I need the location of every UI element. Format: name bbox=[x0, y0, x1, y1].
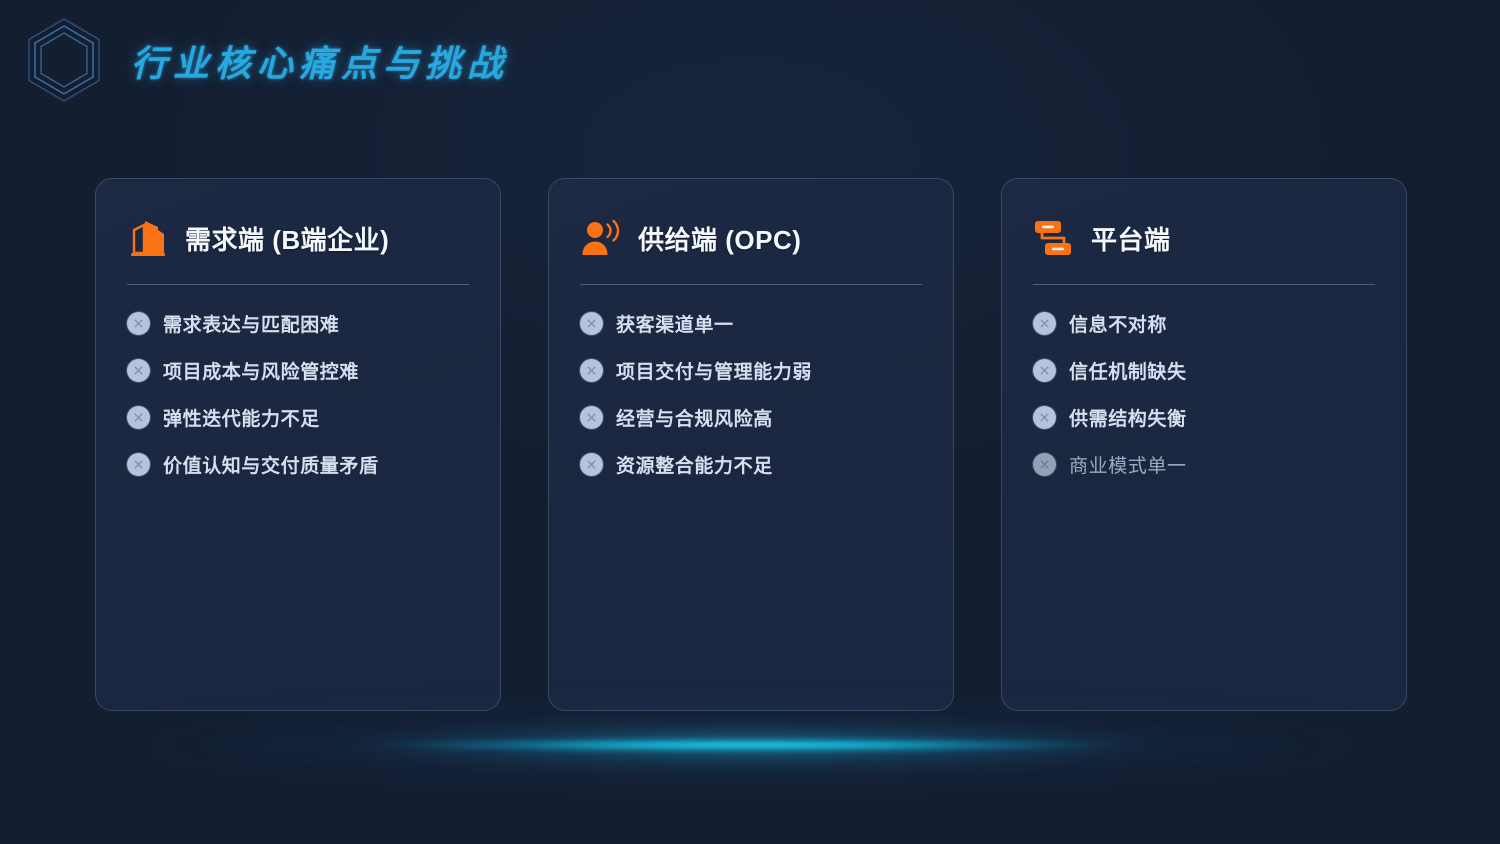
pain-point-list: 信息不对称 信任机制缺失 供需结构失衡 商业模式单一 bbox=[1033, 311, 1375, 477]
page-header: 行业核心痛点与挑战 bbox=[0, 0, 1500, 125]
list-item[interactable]: 资源整合能力不足 bbox=[580, 452, 922, 477]
list-item-label: 供需结构失衡 bbox=[1069, 404, 1187, 431]
list-item[interactable]: 需求表达与匹配困难 bbox=[127, 311, 469, 336]
list-item-label: 弹性迭代能力不足 bbox=[163, 404, 320, 431]
close-circle-icon bbox=[1033, 312, 1056, 335]
card-divider bbox=[580, 284, 922, 285]
list-item-label: 项目交付与管理能力弱 bbox=[616, 357, 812, 384]
card-title: 需求端 (B端企业) bbox=[185, 220, 389, 257]
close-circle-icon bbox=[127, 359, 150, 382]
list-item[interactable]: 经营与合规风险高 bbox=[580, 405, 922, 430]
page-title: 行业核心痛点与挑战 bbox=[131, 35, 509, 87]
pain-point-list: 获客渠道单一 项目交付与管理能力弱 经营与合规风险高 资源整合能力不足 bbox=[580, 311, 922, 477]
close-circle-icon bbox=[1033, 453, 1056, 476]
list-item-label: 价值认知与交付质量矛盾 bbox=[163, 451, 379, 478]
list-item[interactable]: 信息不对称 bbox=[1033, 311, 1375, 336]
card-divider bbox=[1033, 284, 1375, 285]
close-circle-icon bbox=[580, 406, 603, 429]
close-circle-icon bbox=[1033, 359, 1056, 382]
list-item-label: 经营与合规风险高 bbox=[616, 404, 773, 431]
card-header: 需求端 (B端企业) bbox=[127, 213, 469, 263]
close-circle-icon bbox=[127, 453, 150, 476]
card-platform-side[interactable]: 平台端 信息不对称 信任机制缺失 供需结构失衡 bbox=[1001, 178, 1407, 711]
cyan-horizon-glow-core bbox=[370, 739, 1130, 752]
pain-point-cards: 需求端 (B端企业) 需求表达与匹配困难 项目成本与风险管控难 弹性迭代能力不 bbox=[95, 178, 1407, 711]
list-item-label: 项目成本与风险管控难 bbox=[163, 357, 359, 384]
pain-point-list: 需求表达与匹配困难 项目成本与风险管控难 弹性迭代能力不足 价值认知与交付质量矛… bbox=[127, 311, 469, 477]
list-item-label: 信任机制缺失 bbox=[1069, 357, 1187, 384]
list-item-label: 商业模式单一 bbox=[1069, 451, 1187, 478]
list-item-label: 获客渠道单一 bbox=[616, 310, 734, 337]
list-item[interactable]: 项目交付与管理能力弱 bbox=[580, 358, 922, 383]
close-circle-icon bbox=[127, 406, 150, 429]
close-circle-icon bbox=[580, 359, 603, 382]
list-item[interactable]: 项目成本与风险管控难 bbox=[127, 358, 469, 383]
close-circle-icon bbox=[580, 312, 603, 335]
card-title: 供给端 (OPC) bbox=[638, 220, 801, 257]
card-divider bbox=[127, 284, 469, 285]
list-item[interactable]: 价值认知与交付质量矛盾 bbox=[127, 452, 469, 477]
building-icon bbox=[127, 217, 169, 259]
card-header: 供给端 (OPC) bbox=[580, 213, 922, 263]
list-item-label: 资源整合能力不足 bbox=[616, 451, 773, 478]
card-demand-side[interactable]: 需求端 (B端企业) 需求表达与匹配困难 项目成本与风险管控难 弹性迭代能力不 bbox=[95, 178, 501, 711]
card-header: 平台端 bbox=[1033, 213, 1375, 263]
sitemap-icon bbox=[1033, 217, 1075, 259]
list-item-label: 信息不对称 bbox=[1069, 310, 1167, 337]
list-item[interactable]: 商业模式单一 bbox=[1033, 452, 1375, 477]
card-title: 平台端 bbox=[1091, 220, 1171, 257]
card-supply-side[interactable]: 供给端 (OPC) 获客渠道单一 项目交付与管理能力弱 经营与合规风险高 bbox=[548, 178, 954, 711]
close-circle-icon bbox=[580, 453, 603, 476]
close-circle-icon bbox=[1033, 406, 1056, 429]
list-item[interactable]: 弹性迭代能力不足 bbox=[127, 405, 469, 430]
close-circle-icon bbox=[127, 312, 150, 335]
list-item[interactable]: 信任机制缺失 bbox=[1033, 358, 1375, 383]
list-item[interactable]: 获客渠道单一 bbox=[580, 311, 922, 336]
list-item-label: 需求表达与匹配困难 bbox=[163, 310, 339, 337]
list-item[interactable]: 供需结构失衡 bbox=[1033, 405, 1375, 430]
person-broadcast-icon bbox=[580, 217, 622, 259]
hexagon-logo-icon bbox=[18, 14, 110, 106]
